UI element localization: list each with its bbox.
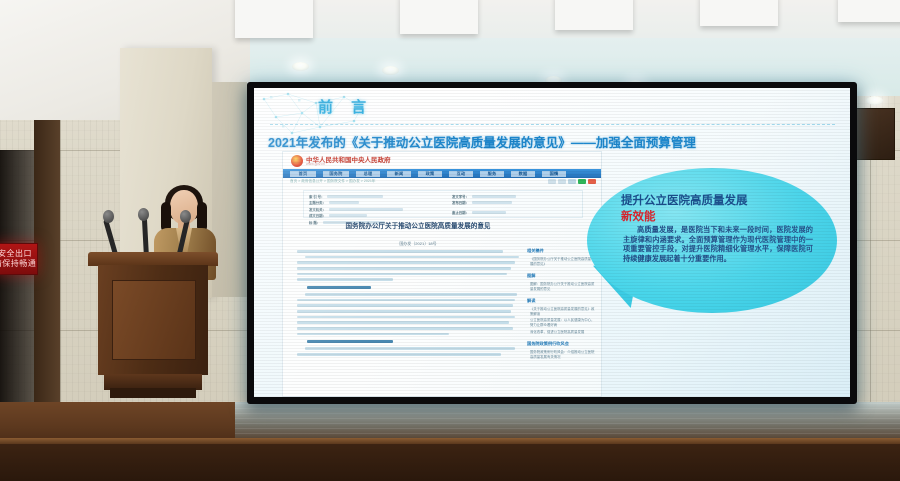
gov-nav-item-6[interactable]: 服务 bbox=[480, 171, 504, 177]
gov-document-body bbox=[297, 250, 519, 359]
conference-room: 安全出口 请保持畅通 bbox=[0, 0, 900, 481]
gov-section-heading bbox=[307, 286, 371, 289]
metadata-key: 索 引 号： bbox=[309, 194, 324, 199]
metadata-row: 废止日期： bbox=[452, 210, 516, 215]
metadata-key: 发文字号： bbox=[452, 194, 469, 199]
metadata-key: 废止日期： bbox=[452, 210, 469, 215]
microphone-head bbox=[180, 210, 191, 223]
font-size-icon[interactable] bbox=[558, 179, 566, 184]
gov-nav-bar[interactable]: 首页 国务院 总理 新闻 政策 互动 服务 数据 国情 bbox=[283, 169, 601, 178]
ceiling-beam bbox=[235, 0, 313, 38]
title-divider bbox=[270, 124, 835, 125]
gov-nav-item-4[interactable]: 政策 bbox=[418, 171, 442, 177]
led-screen: 前 言 2021年发布的《关于推动公立医院高质量发展的意见》——加强全面预算管理… bbox=[254, 88, 850, 397]
metadata-key: 发文机关： bbox=[309, 207, 326, 212]
wechat-icon[interactable] bbox=[578, 179, 586, 184]
metadata-right-column: 发文字号： 发布日期： 废止日期： bbox=[452, 194, 516, 217]
callout-bubble: 提升公立医院高质量发展 新效能 高质量发展，是医院当下和未来一段时间，医院发展的… bbox=[587, 168, 837, 318]
metadata-key: 标 题： bbox=[309, 220, 320, 225]
presentation-slide: 前 言 2021年发布的《关于推动公立医院高质量发展的意见》——加强全面预算管理… bbox=[254, 88, 850, 397]
wall-speaker-box bbox=[855, 108, 895, 160]
headline-dash: ——加强全面预算管理 bbox=[571, 136, 696, 150]
ceiling-beam bbox=[838, 0, 900, 22]
sidebar-link[interactable]: 深化改革，促进公立医院高质量发展 bbox=[527, 330, 597, 335]
downlight bbox=[866, 96, 883, 105]
sidebar-link[interactable]: 公立医院高质量发展：以人民健康为中心，努力让群众看好病 bbox=[527, 318, 597, 328]
gov-document-number: 国办发〔2021〕18号 bbox=[323, 241, 513, 247]
print-icon[interactable] bbox=[548, 179, 556, 184]
ceiling-beam bbox=[400, 0, 478, 34]
metadata-row: 发文机关： bbox=[309, 207, 403, 212]
metadata-row: 发文字号： bbox=[452, 194, 516, 199]
metadata-key: 成文日期： bbox=[309, 213, 326, 218]
gov-website-screenshot: 中华人民共和国中央人民政府 www.gov.cn 首页 国务院 总理 新闻 政策… bbox=[282, 151, 602, 397]
gov-nav-item-5[interactable]: 互动 bbox=[449, 171, 473, 177]
gov-nav-item-2[interactable]: 总理 bbox=[356, 171, 380, 177]
downlight bbox=[382, 66, 399, 75]
slide-section-title: 前 言 bbox=[318, 96, 373, 117]
gov-nav-item-3[interactable]: 新闻 bbox=[387, 171, 411, 177]
gov-nav-item-1[interactable]: 国务院 bbox=[323, 171, 349, 177]
metadata-row: 成文日期： bbox=[309, 213, 403, 218]
gov-nav-item-8[interactable]: 国情 bbox=[542, 171, 566, 177]
screenshot-root: 安全出口 请保持畅通 bbox=[0, 0, 900, 481]
slide-headline: 2021年发布的《关于推动公立医院高质量发展的意见》——加强全面预算管理 bbox=[268, 132, 843, 151]
metadata-key: 主题分类： bbox=[309, 200, 326, 205]
podium-top bbox=[88, 252, 218, 266]
podium-foot bbox=[110, 388, 196, 398]
national-emblem-icon bbox=[291, 155, 303, 167]
gov-site-url: www.gov.cn bbox=[306, 162, 325, 166]
gov-header: 中华人民共和国中央人民政府 www.gov.cn bbox=[283, 152, 601, 169]
sidebar-link[interactable]: 国务院政策例行吹风会：介绍推动公立医院高质量发展有关情况 bbox=[527, 350, 597, 360]
metadata-row: 索 引 号： bbox=[309, 194, 403, 199]
podium-front-panel bbox=[112, 280, 196, 360]
ceiling-beam bbox=[700, 0, 778, 26]
downlight bbox=[292, 62, 309, 71]
emergency-exit-sign: 安全出口 请保持畅通 bbox=[0, 243, 38, 275]
metadata-key: 发布日期： bbox=[452, 200, 469, 205]
callout-heading-line1: 提升公立医院高质量发展 bbox=[621, 192, 821, 208]
sidebar-heading: 国务院政策例行吹风会 bbox=[527, 341, 597, 347]
exit-sign-line2: 请保持畅通 bbox=[0, 259, 36, 269]
gov-document-title: 国务院办公厅关于推动公立医院高质量发展的意见 bbox=[323, 222, 513, 231]
gov-nav-item-7[interactable]: 数据 bbox=[511, 171, 535, 177]
ceiling-beam bbox=[555, 0, 633, 30]
gov-nav-item-0[interactable]: 首页 bbox=[290, 171, 316, 177]
gov-section-heading bbox=[307, 340, 393, 343]
callout-heading-line2: 新效能 bbox=[621, 208, 656, 224]
front-floor bbox=[0, 444, 900, 481]
podium bbox=[88, 252, 218, 404]
metadata-row: 发布日期： bbox=[452, 200, 516, 205]
exit-sign-line1: 安全出口 bbox=[0, 249, 32, 259]
share-icon[interactable] bbox=[568, 179, 576, 184]
microphone-head bbox=[103, 210, 114, 223]
gov-metadata-table: 索 引 号： 主题分类： 发文机关： 成文日期： 标 题： 发文字号： 发布日期… bbox=[303, 190, 583, 218]
metadata-row: 主题分类： bbox=[309, 200, 403, 205]
headline-main: 2021年发布的《关于推动公立医院高质量发展的意见》 bbox=[268, 136, 571, 150]
callout-body-text: 高质量发展，是医院当下和未来一段时间，医院发展的主旋律和内涵要求。全面预算管理作… bbox=[623, 225, 813, 263]
microphone-head bbox=[138, 208, 149, 221]
